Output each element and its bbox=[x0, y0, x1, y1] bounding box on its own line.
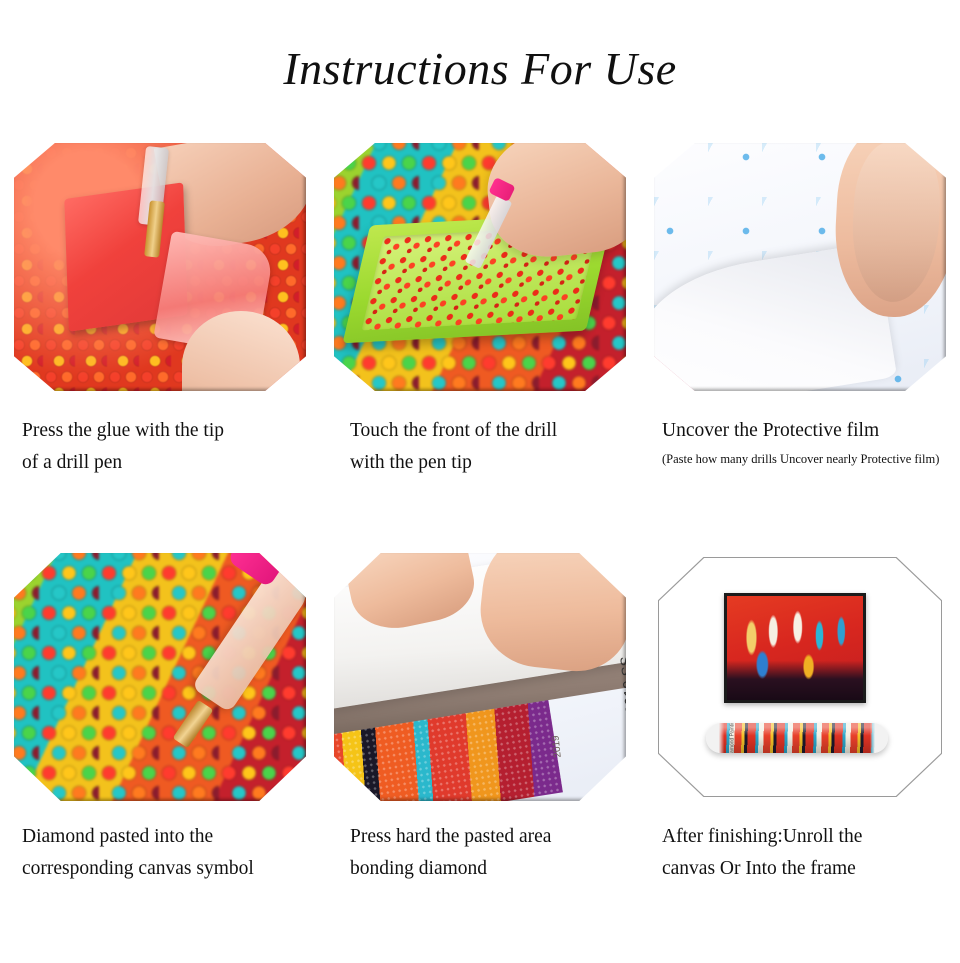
roll-label: Diamond Painting bbox=[730, 723, 736, 753]
instruction-step-2: Touch the front of the drill with the pe… bbox=[320, 143, 640, 553]
rolled-canvas: Diamond Painting bbox=[706, 723, 888, 753]
step-3-caption: Uncover the Protective film (Paste how m… bbox=[640, 415, 960, 471]
instruction-step-4: Diamond pasted into the corresponding ca… bbox=[0, 553, 320, 963]
step-1-photo bbox=[14, 143, 306, 391]
step-2-caption: Touch the front of the drill with the pe… bbox=[320, 415, 640, 478]
page-title: Instructions For Use bbox=[0, 46, 960, 92]
step-6-caption: After finishing:Unroll the canvas Or Int… bbox=[640, 821, 960, 884]
step-4-photo bbox=[14, 553, 306, 801]
step-5-photo: ANE PRACE 2019 SS 2019 bbox=[334, 553, 626, 801]
step-5-caption: Press hard the pasted area bonding diamo… bbox=[320, 821, 640, 884]
step-4-caption-line2: corresponding canvas symbol bbox=[22, 858, 254, 879]
step-1-caption-line2: of a drill pen bbox=[22, 452, 122, 473]
step-2-photo bbox=[334, 143, 626, 391]
step-1-caption: Press the glue with the tip of a drill p… bbox=[0, 415, 320, 478]
book-side-text: 2019 bbox=[550, 735, 563, 758]
step-5-caption-line1: Press hard the pasted area bbox=[350, 826, 551, 847]
step-4-caption-line1: Diamond pasted into the bbox=[22, 826, 213, 847]
step-3-caption-sub: (Paste how many drills Uncover nearly Pr… bbox=[662, 448, 944, 471]
step-6-caption-line2: canvas Or Into the frame bbox=[662, 858, 856, 879]
step-4-caption: Diamond pasted into the corresponding ca… bbox=[0, 821, 320, 884]
framed-artwork bbox=[724, 593, 866, 703]
step-3-caption-line1: Uncover the Protective film bbox=[662, 420, 879, 441]
instruction-step-3: Uncover the Protective film (Paste how m… bbox=[640, 143, 960, 553]
instruction-step-5: ANE PRACE 2019 SS 2019 Press hard the pa… bbox=[320, 553, 640, 963]
instruction-steps-grid: Press the glue with the tip of a drill p… bbox=[0, 143, 960, 963]
step-1-caption-line1: Press the glue with the tip bbox=[22, 420, 224, 441]
step-5-caption-line2: bonding diamond bbox=[350, 858, 487, 879]
step-6-photo: Diamond Painting bbox=[654, 553, 946, 801]
instruction-step-6: Diamond Painting After finishing:Unroll … bbox=[640, 553, 960, 963]
step-3-photo bbox=[654, 143, 946, 391]
artwork-image bbox=[727, 596, 863, 700]
step-2-caption-line2: with the pen tip bbox=[350, 452, 472, 473]
instruction-step-1: Press the glue with the tip of a drill p… bbox=[0, 143, 320, 553]
step-6-caption-line1: After finishing:Unroll the bbox=[662, 826, 862, 847]
step-2-caption-line1: Touch the front of the drill bbox=[350, 420, 557, 441]
